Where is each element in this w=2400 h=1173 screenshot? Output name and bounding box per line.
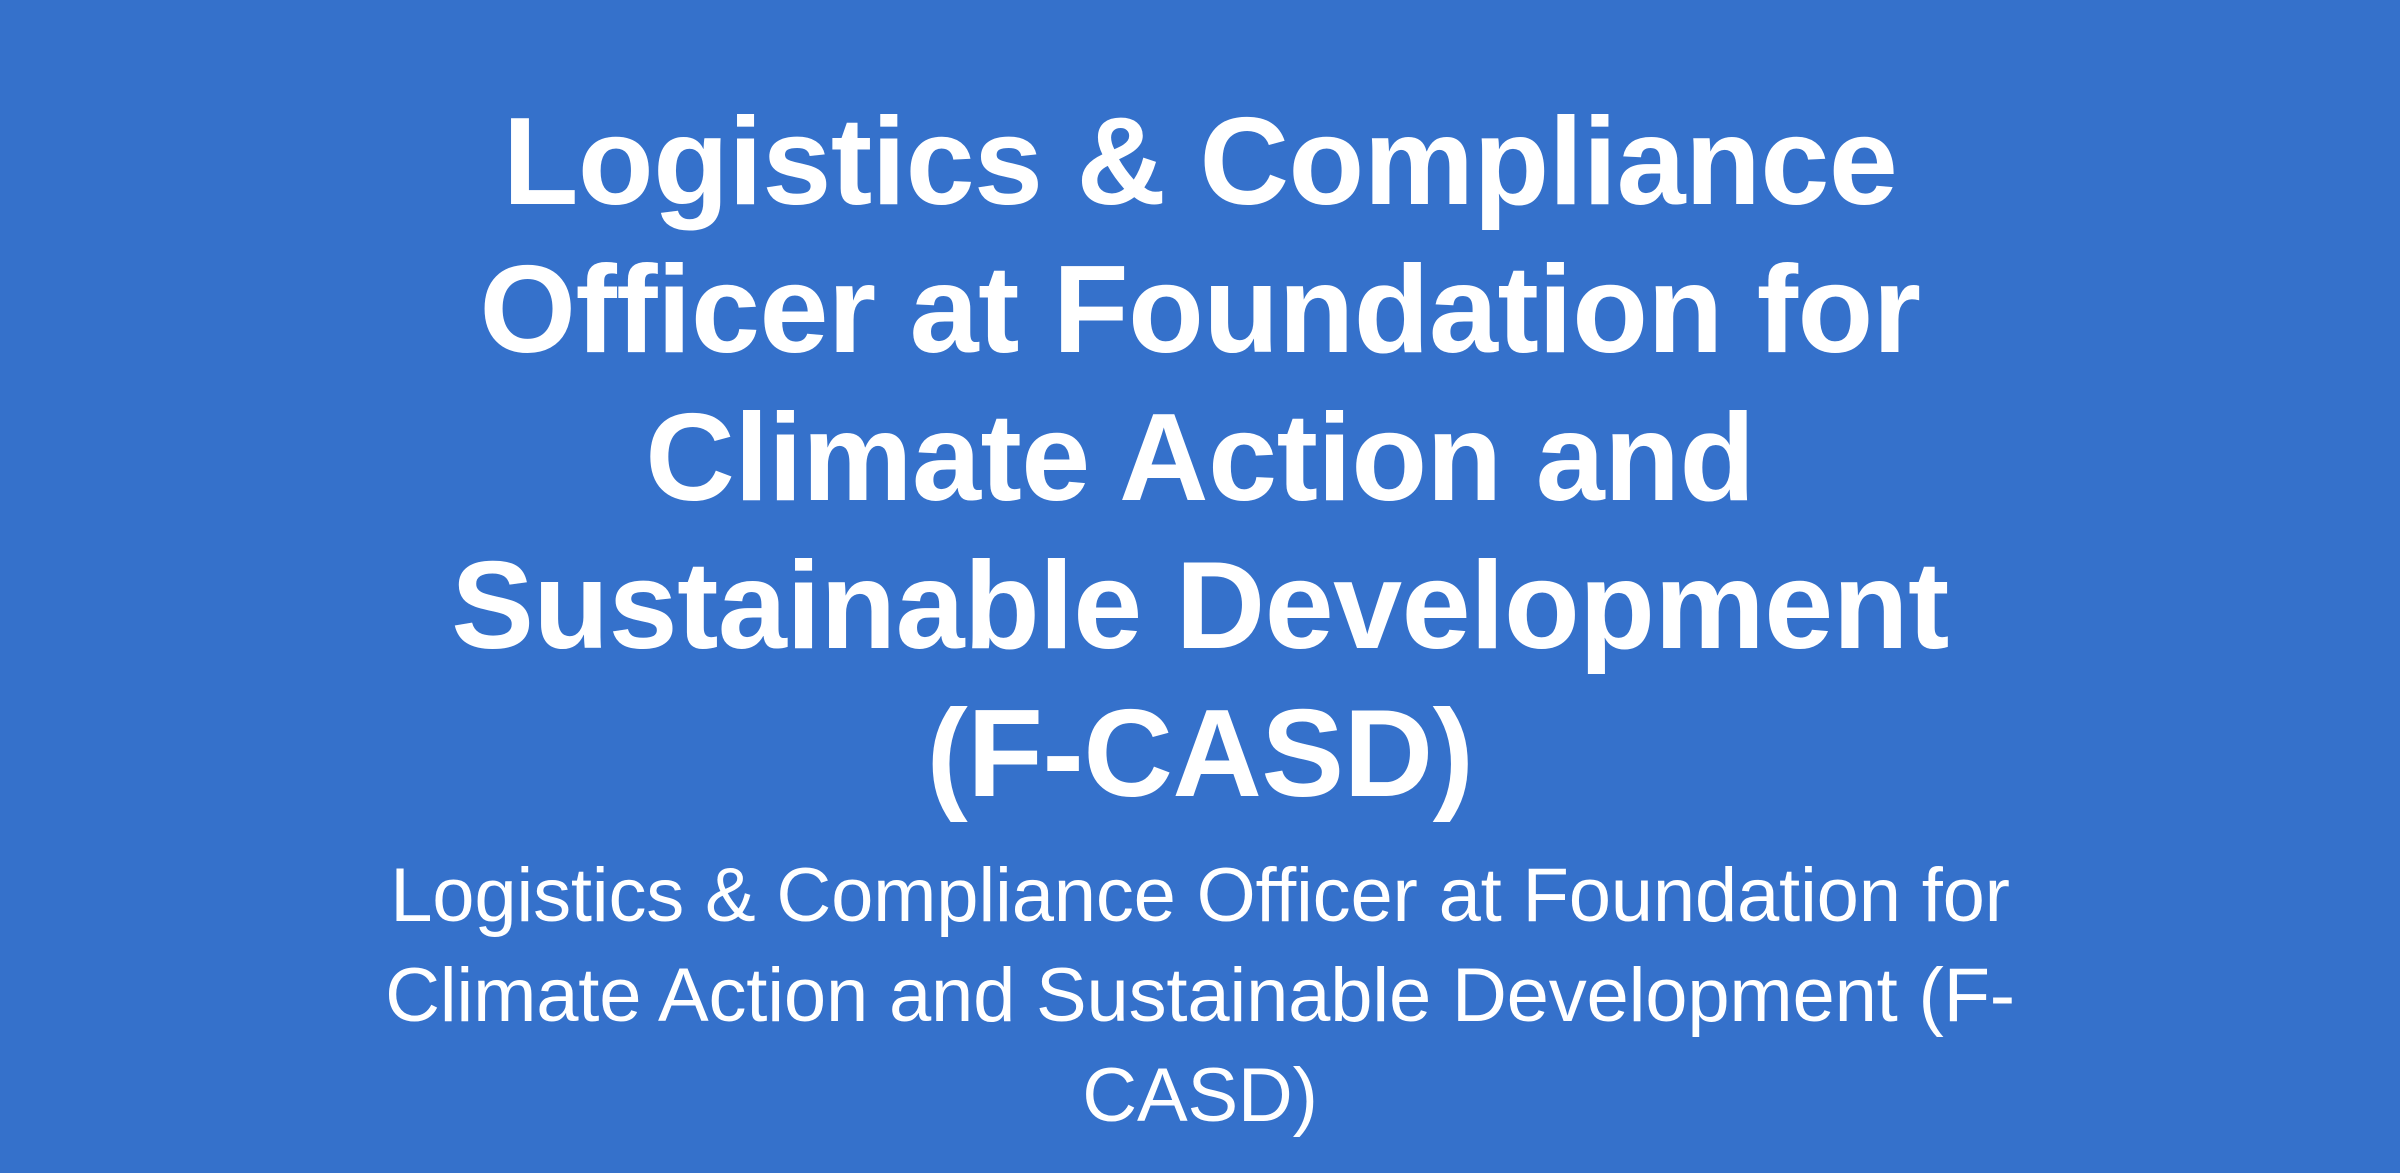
page-title: Logistics & Compliance Officer at Founda…: [380, 88, 2020, 828]
share-card-content: Logistics & Compliance Officer at Founda…: [330, 0, 2070, 1146]
page-subtitle: Logistics & Compliance Officer at Founda…: [350, 846, 2050, 1146]
share-card: Logistics & Compliance Officer at Founda…: [0, 0, 2400, 1173]
